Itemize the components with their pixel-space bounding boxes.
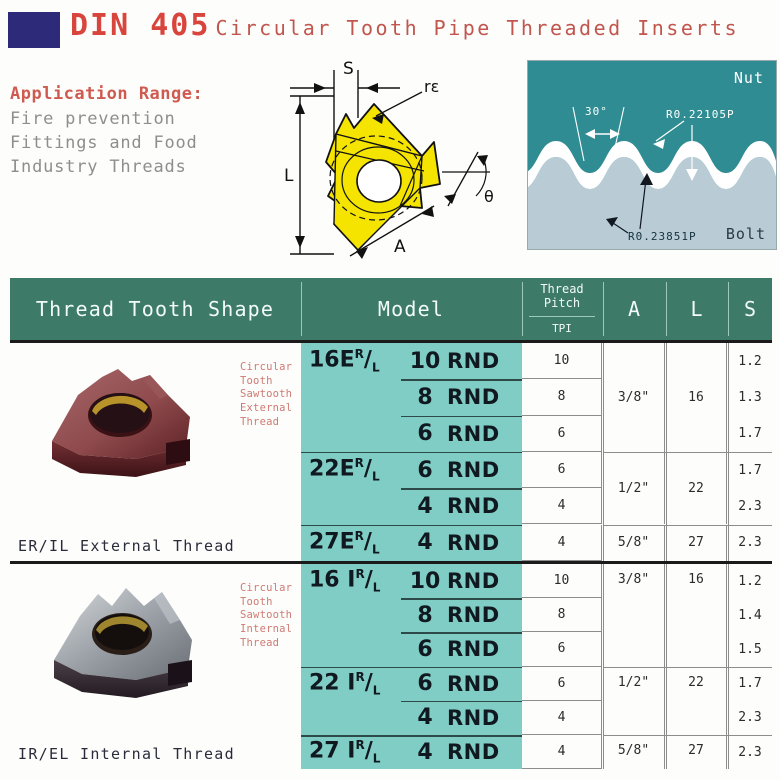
s-cell: 1.3 — [728, 379, 772, 415]
model-rnd: RND — [447, 740, 500, 764]
label-line: Circular — [240, 361, 298, 375]
model-rnd: RND — [447, 494, 500, 518]
label-line: External — [240, 402, 298, 416]
thread-pitch-unit: TPI — [552, 317, 572, 335]
tpi-cell: 8 — [522, 598, 602, 632]
tpi-cell: 6 — [522, 632, 602, 666]
application-range-line-3: Industry Threads — [10, 155, 260, 179]
s-cell: 2.3 — [728, 488, 772, 524]
label-l: L — [284, 166, 294, 186]
label-line: Internal — [240, 623, 298, 637]
tpi-cell: 6 — [522, 416, 602, 452]
label-line: Thread — [240, 416, 298, 430]
model-cell[interactable]: 4 RND — [301, 701, 522, 735]
blue-square-logo-icon — [8, 12, 60, 48]
model-code: 27ER/L — [309, 529, 380, 557]
a-cell: 3/8" — [603, 564, 665, 667]
model-cell[interactable]: 16 IR/L 10 RND — [301, 564, 522, 598]
label-a: A — [394, 237, 406, 257]
l-cell: 16 — [666, 343, 727, 452]
model-rnd: RND — [447, 349, 500, 373]
model-pitch-number: 10 — [407, 349, 443, 374]
application-range-title: Application Range: — [10, 84, 260, 104]
insert-body — [326, 104, 440, 250]
model-pitch-number: 4 — [407, 530, 443, 555]
tpi-cell: 4 — [522, 488, 602, 524]
tpi-cell: 10 — [522, 564, 602, 598]
model-pitch-number: 4 — [407, 705, 443, 730]
l-cell: 22 — [666, 667, 727, 735]
label-theta: θ — [484, 187, 494, 206]
model-pitch-number: 6 — [407, 671, 443, 696]
title-subtitle: Circular Tooth Pipe Threaded Inserts — [216, 16, 739, 40]
standard-code: DIN 405 — [70, 8, 210, 43]
l-cell: 27 — [666, 735, 727, 769]
nut-radius-label: R0.22105P — [666, 108, 735, 121]
model-rnd: RND — [447, 603, 500, 627]
label-r-epsilon: rε — [424, 77, 439, 96]
model-code: 16ER/L — [309, 347, 380, 375]
model-cell[interactable]: 8 RND — [301, 598, 522, 632]
tpi-cell: 6 — [522, 452, 602, 488]
thread-pitch-line-1: Thread — [540, 283, 583, 297]
s-cell: 1.7 — [728, 452, 772, 488]
model-cell[interactable]: 22ER/L 6 RND — [301, 452, 522, 488]
label-line: Tooth — [240, 596, 298, 610]
tpi-cell: 8 — [522, 379, 602, 415]
model-cell[interactable]: 27 IR/L 4 RND — [301, 735, 522, 769]
a-cell: 1/2" — [603, 452, 665, 525]
label-line: Thread — [240, 637, 298, 651]
external-thread-caption: ER/IL External Thread — [18, 537, 235, 555]
column-header-s: S — [728, 278, 772, 340]
a-cell: 5/8" — [603, 735, 665, 769]
model-pitch-number: 10 — [407, 569, 443, 594]
application-range-block: Application Range: Fire prevention Fitti… — [10, 84, 260, 179]
column-header-model: Model — [301, 278, 521, 340]
specification-table: Thread Tooth Shape Model Thread Pitch TP… — [10, 278, 772, 769]
application-range-line-2: Fittings and Food — [10, 131, 260, 155]
model-cell[interactable]: 6 RND — [301, 632, 522, 666]
model-code: 22ER/L — [309, 456, 380, 484]
page-header: DIN 405 Circular Tooth Pipe Threaded Ins… — [0, 0, 780, 58]
l-cell: 22 — [666, 452, 727, 525]
external-thread-insert-photo: ER/IL External Thread — [10, 343, 238, 561]
column-header-a: A — [603, 278, 665, 340]
label-line: Circular — [240, 582, 298, 596]
table-section-internal: IR/EL Internal Thread Circular Tooth Saw… — [10, 564, 772, 769]
s-cell: 2.3 — [728, 735, 772, 769]
model-rnd: RND — [447, 531, 500, 555]
label-s: S — [343, 59, 354, 79]
model-cell[interactable]: 16ER/L 10 RND — [301, 343, 522, 379]
spec-sheet-page: DIN 405 Circular Tooth Pipe Threaded Ins… — [0, 0, 780, 780]
thread-pitch-line-2: Pitch — [540, 297, 583, 311]
l-cell: 16 — [666, 564, 727, 667]
angle-label: 30° — [585, 105, 608, 118]
column-header-l: L — [666, 278, 727, 340]
model-code: 27 IR/L — [309, 738, 380, 766]
s-cell: 1.5 — [728, 632, 772, 666]
section-label-external: Circular Tooth Sawtooth External Thread — [240, 361, 298, 429]
label-line: Tooth — [240, 375, 298, 389]
insert-dimension-diagram: S L rε — [272, 56, 512, 268]
a-cell: 1/2" — [603, 667, 665, 735]
model-column-external: 16ER/L 10 RND 8 RND 6 RND 22ER/L 6 — [301, 343, 522, 561]
model-pitch-number: 8 — [407, 603, 443, 628]
bolt-label: Bolt — [726, 225, 766, 243]
model-rnd: RND — [447, 569, 500, 593]
application-range-line-1: Fire prevention — [10, 107, 260, 131]
model-rnd: RND — [447, 458, 500, 482]
s-cell: 2.3 — [728, 701, 772, 735]
a-cell: 5/8" — [603, 525, 665, 561]
model-pitch-number: 6 — [407, 421, 443, 446]
s-cell: 1.2 — [728, 564, 772, 598]
s-cell: 1.2 — [728, 343, 772, 379]
numeric-grid-external: 10 8 6 6 4 4 3/8" 1/2" 5/8" 16 22 27 1.2… — [522, 343, 772, 561]
label-line: Sawtooth — [240, 388, 298, 402]
s-cell: 1.7 — [728, 416, 772, 452]
model-pitch-number: 8 — [407, 385, 443, 410]
a-cell: 3/8" — [603, 343, 665, 452]
table-header-row: Thread Tooth Shape Model Thread Pitch TP… — [10, 278, 772, 343]
external-insert-illustration — [40, 355, 210, 485]
column-header-shape: Thread Tooth Shape — [10, 278, 300, 340]
model-pitch-number: 6 — [407, 637, 443, 662]
internal-thread-caption: IR/EL Internal Thread — [18, 745, 235, 763]
model-cell[interactable]: 8 RND — [301, 379, 522, 415]
model-rnd: RND — [447, 706, 500, 730]
tpi-cell: 6 — [522, 667, 602, 701]
model-column-internal: 16 IR/L 10 RND 8 RND 6 RND 22 IR/L 6 — [301, 564, 522, 769]
model-cell[interactable]: 6 RND — [301, 416, 522, 452]
model-cell[interactable]: 4 RND — [301, 488, 522, 524]
model-cell[interactable]: 22 IR/L 6 RND — [301, 667, 522, 701]
tpi-cell: 10 — [522, 343, 602, 379]
numeric-grid-internal: 10 8 6 6 4 4 3/8" 1/2" 5/8" 16 22 27 1.2… — [522, 564, 772, 769]
page-title: DIN 405 Circular Tooth Pipe Threaded Ins… — [70, 8, 739, 43]
model-code: 16 IR/L — [309, 567, 380, 595]
label-line: Sawtooth — [240, 609, 298, 623]
section-label-internal: Circular Tooth Sawtooth Internal Thread — [240, 582, 298, 650]
model-pitch-number: 6 — [407, 458, 443, 483]
l-cell: 27 — [666, 525, 727, 561]
model-cell[interactable]: 27ER/L 4 RND — [301, 524, 522, 560]
internal-thread-insert-photo: IR/EL Internal Thread — [10, 564, 238, 769]
insert-diagram-svg: S L rε — [272, 56, 512, 268]
model-rnd: RND — [447, 422, 500, 446]
bolt-radius-label: R0.23851P — [628, 230, 697, 243]
thread-profile-diagram: Nut Bolt 30° R0.22105P R0.23851P — [527, 60, 777, 250]
model-pitch-number: 4 — [407, 494, 443, 519]
model-rnd: RND — [447, 385, 500, 409]
tpi-cell: 4 — [522, 735, 602, 769]
column-header-thread-pitch: Thread Pitch TPI — [522, 278, 602, 340]
model-rnd: RND — [447, 672, 500, 696]
internal-insert-illustration — [40, 576, 210, 706]
s-cell: 1.4 — [728, 598, 772, 632]
tpi-cell: 4 — [522, 701, 602, 735]
tpi-cell: 4 — [522, 525, 602, 561]
table-section-external: ER/IL External Thread Circular Tooth Saw… — [10, 343, 772, 564]
model-pitch-number: 4 — [407, 740, 443, 765]
model-code: 22 IR/L — [309, 670, 380, 698]
thread-profile-svg — [528, 61, 776, 249]
s-cell: 2.3 — [728, 525, 772, 561]
s-cell: 1.7 — [728, 667, 772, 701]
model-rnd: RND — [447, 637, 500, 661]
nut-label: Nut — [734, 69, 764, 87]
